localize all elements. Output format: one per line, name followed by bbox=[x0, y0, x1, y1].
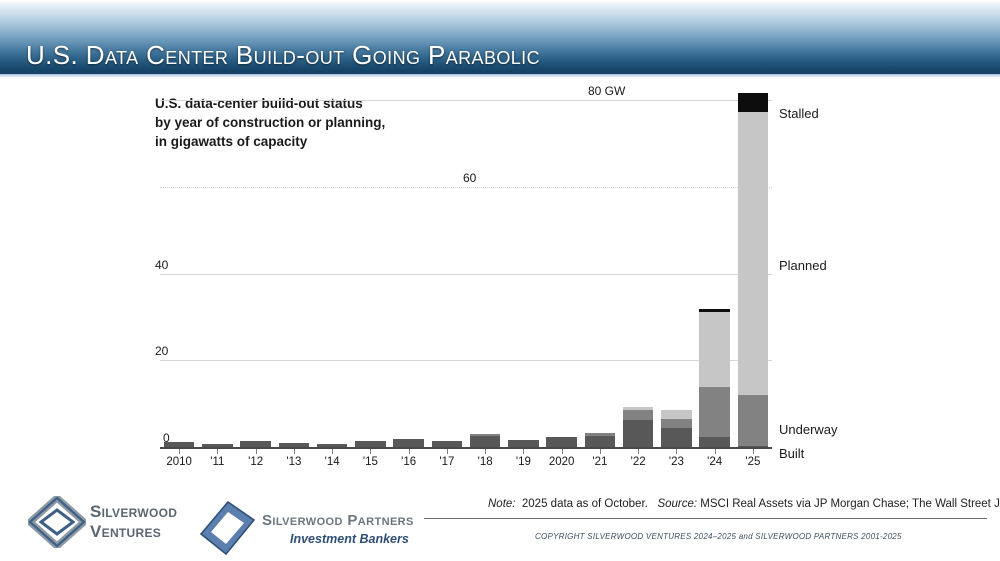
x-tick-23 bbox=[676, 449, 677, 454]
source-label: Source: bbox=[657, 498, 697, 510]
x-tick-2010 bbox=[179, 449, 180, 454]
chart-subtitle-line-3: in gigawatts of capacity bbox=[155, 132, 385, 151]
x-axis-label-25: '25 bbox=[734, 456, 772, 468]
x-axis-label-16: '16 bbox=[390, 456, 428, 468]
y-tick-label-60: 60 bbox=[463, 171, 476, 185]
x-axis-label-21: '21 bbox=[581, 456, 619, 468]
x-tick-25 bbox=[753, 449, 754, 454]
series-label-underway: Underway bbox=[779, 422, 838, 437]
bar-segment-planned bbox=[661, 410, 692, 420]
note-text: 2025 data as of October. bbox=[522, 498, 648, 510]
x-tick-15 bbox=[370, 449, 371, 454]
bar-22 bbox=[623, 407, 654, 447]
bar-16 bbox=[393, 439, 424, 447]
chart: U.S. data-center build-out status by yea… bbox=[0, 78, 1000, 478]
bar-18 bbox=[470, 434, 501, 447]
chart-subtitle-line-2: by year of construction or planning, bbox=[155, 113, 385, 132]
y-tick-label-20: 20 bbox=[155, 344, 168, 358]
bar-21 bbox=[585, 433, 616, 447]
tilted-diamond-icon bbox=[198, 500, 256, 556]
ventures-word-line-1: Silverwood bbox=[90, 502, 177, 522]
series-label-built: Built bbox=[779, 446, 804, 461]
silverwood-partners-logo: Silverwood Partners Investment Bankers bbox=[198, 500, 418, 556]
bar-24 bbox=[699, 309, 730, 447]
bar-segment-built bbox=[623, 420, 654, 447]
bar-segment-built bbox=[585, 436, 616, 447]
x-axis-label-19: '19 bbox=[504, 456, 542, 468]
x-axis-label-18: '18 bbox=[466, 456, 504, 468]
x-axis-line bbox=[160, 447, 772, 449]
x-axis-label-12: '12 bbox=[237, 456, 275, 468]
bar-segment-planned bbox=[738, 112, 769, 395]
partners-wordmark: Silverwood Partners bbox=[262, 512, 414, 529]
y-tick-label-40: 40 bbox=[155, 258, 168, 272]
chart-subtitle-line-1: U.S. data-center build-out status bbox=[155, 94, 385, 113]
bar-segment-built bbox=[661, 428, 692, 447]
partners-tagline: Investment Bankers bbox=[290, 532, 409, 546]
page-title: U.S. Data Center Build-out Going Parabol… bbox=[26, 40, 540, 71]
diamond-outline-icon bbox=[28, 496, 86, 548]
x-tick-12 bbox=[256, 449, 257, 454]
copyright-line: COPYRIGHT SILVERWOOD VENTURES 2024–2025 … bbox=[535, 532, 902, 541]
x-tick-22 bbox=[638, 449, 639, 454]
source-text: MSCI Real Assets via JP Morgan Chase; Th… bbox=[700, 498, 1000, 510]
x-tick-16 bbox=[409, 449, 410, 454]
x-tick-21 bbox=[600, 449, 601, 454]
bar-segment-built bbox=[546, 437, 577, 447]
bar-segment-built bbox=[470, 436, 501, 447]
x-tick-24 bbox=[715, 449, 716, 454]
bar-25 bbox=[738, 93, 769, 447]
x-axis-label-11: '11 bbox=[198, 456, 236, 468]
bar-segment-stalled bbox=[738, 93, 769, 113]
bar-23 bbox=[661, 410, 692, 447]
title-banner: U.S. Data Center Build-out Going Parabol… bbox=[0, 0, 1000, 78]
gridline-60 bbox=[160, 187, 772, 188]
x-axis-label-2010: 2010 bbox=[160, 456, 198, 468]
gridline-40 bbox=[160, 274, 772, 275]
x-tick-18 bbox=[485, 449, 486, 454]
x-axis-label-13: '13 bbox=[275, 456, 313, 468]
x-axis-label-23: '23 bbox=[657, 456, 695, 468]
y-tick-label-80: 80 GW bbox=[588, 84, 625, 98]
bar-segment-built bbox=[393, 439, 424, 447]
silverwood-ventures-logo: Silverwood Ventures bbox=[28, 496, 188, 548]
bar-19 bbox=[508, 440, 539, 447]
bar-segment-planned bbox=[699, 312, 730, 387]
gridline-20 bbox=[160, 360, 772, 361]
x-tick-11 bbox=[217, 449, 218, 454]
x-axis-label-22: '22 bbox=[619, 456, 657, 468]
x-tick-17 bbox=[447, 449, 448, 454]
x-axis-label-14: '14 bbox=[313, 456, 351, 468]
bar-2020 bbox=[546, 437, 577, 447]
note-label: Note: bbox=[488, 498, 516, 510]
silverwood-ventures-wordmark: Silverwood Ventures bbox=[90, 502, 177, 542]
bar-segment-underway bbox=[661, 419, 692, 428]
x-tick-13 bbox=[294, 449, 295, 454]
x-axis-label-15: '15 bbox=[351, 456, 389, 468]
x-axis-label-17: '17 bbox=[428, 456, 466, 468]
x-axis-label-24: '24 bbox=[696, 456, 734, 468]
chart-subtitle: U.S. data-center build-out status by yea… bbox=[155, 94, 385, 151]
bar-segment-underway bbox=[623, 410, 654, 420]
series-label-planned: Planned bbox=[779, 258, 827, 273]
x-tick-19 bbox=[523, 449, 524, 454]
note-divider bbox=[424, 518, 987, 519]
bar-segment-built bbox=[508, 440, 539, 447]
x-tick-14 bbox=[332, 449, 333, 454]
series-label-stalled: Stalled bbox=[779, 106, 819, 121]
ventures-word-line-2: Ventures bbox=[90, 522, 177, 542]
footnote: Note: 2025 data as of October. Source: M… bbox=[488, 498, 1000, 510]
gridline-80 bbox=[160, 100, 772, 101]
x-axis-label-2020: 2020 bbox=[543, 456, 581, 468]
bar-segment-underway bbox=[699, 387, 730, 436]
bar-segment-underway bbox=[738, 395, 769, 445]
x-tick-2020 bbox=[562, 449, 563, 454]
bar-segment-built bbox=[699, 437, 730, 447]
